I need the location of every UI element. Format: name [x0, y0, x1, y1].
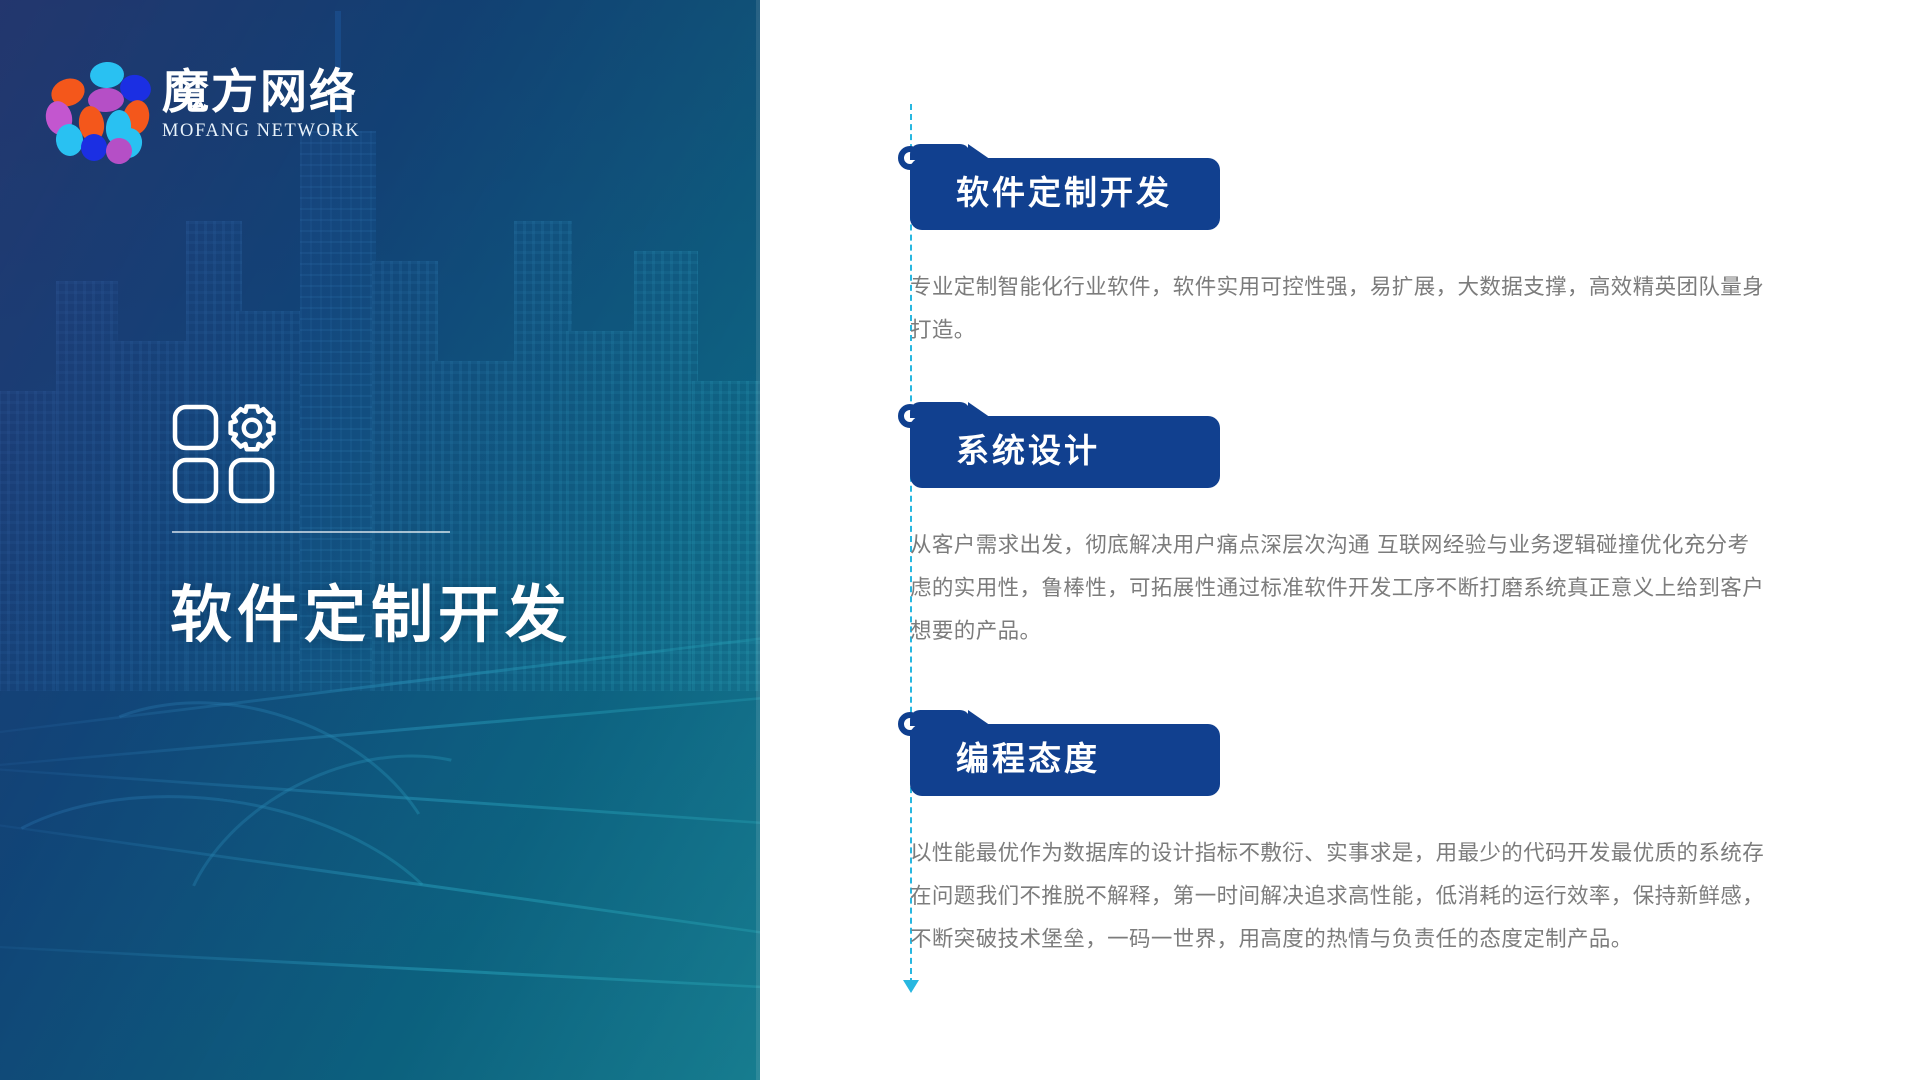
section-body: 专业定制智能化行业软件，软件实用可控性强，易扩展，大数据支撑，高效精英团队量身打… [910, 266, 1770, 352]
section-title: 编程态度 [956, 741, 1174, 777]
logo-text-cn: 魔方网络 [162, 69, 360, 116]
section-heading-card[interactable]: 软件定制开发 [910, 158, 1220, 230]
hero-divider [172, 531, 450, 533]
hero-title: 软件定制开发 [170, 580, 572, 649]
grid-and-gear-icon [172, 404, 284, 504]
section-title: 系统设计 [956, 433, 1174, 469]
section-heading-card[interactable]: 编程态度 [910, 724, 1220, 796]
section-title: 软件定制开发 [956, 175, 1174, 211]
section-software-custom-development: 软件定制开发 专业定制智能化行业软件，软件实用可控性强，易扩展，大数据支撑，高效… [910, 158, 1910, 352]
logo-mark-icon [50, 62, 148, 148]
section-programming-attitude: 编程态度 以性能最优作为数据库的设计指标不敷衍、实事求是，用最少的代码开发最优质… [910, 724, 1910, 961]
section-body: 从客户需求出发，彻底解决用户痛点深层次沟通 互联网经验与业务逻辑碰撞优化充分考虑… [910, 524, 1770, 653]
brand-logo[interactable]: 魔方网络 MOFANG NETWORK [50, 62, 360, 148]
section-heading-card[interactable]: 系统设计 [910, 416, 1220, 488]
slide-root: 魔方网络 MOFANG NETWORK 软件定制开发 [0, 0, 1920, 1080]
section-body: 以性能最优作为数据库的设计指标不敷衍、实事求是，用最少的代码开发最优质的系统存在… [910, 832, 1770, 961]
content-panel: 软件定制开发 专业定制智能化行业软件，软件实用可控性强，易扩展，大数据支撑，高效… [760, 0, 1920, 1080]
timeline-down-arrow-icon [903, 980, 919, 993]
logo-text-en: MOFANG NETWORK [162, 121, 360, 142]
left-hero-panel: 魔方网络 MOFANG NETWORK 软件定制开发 [0, 0, 760, 1080]
section-system-design: 系统设计 从客户需求出发，彻底解决用户痛点深层次沟通 互联网经验与业务逻辑碰撞优… [910, 416, 1910, 653]
